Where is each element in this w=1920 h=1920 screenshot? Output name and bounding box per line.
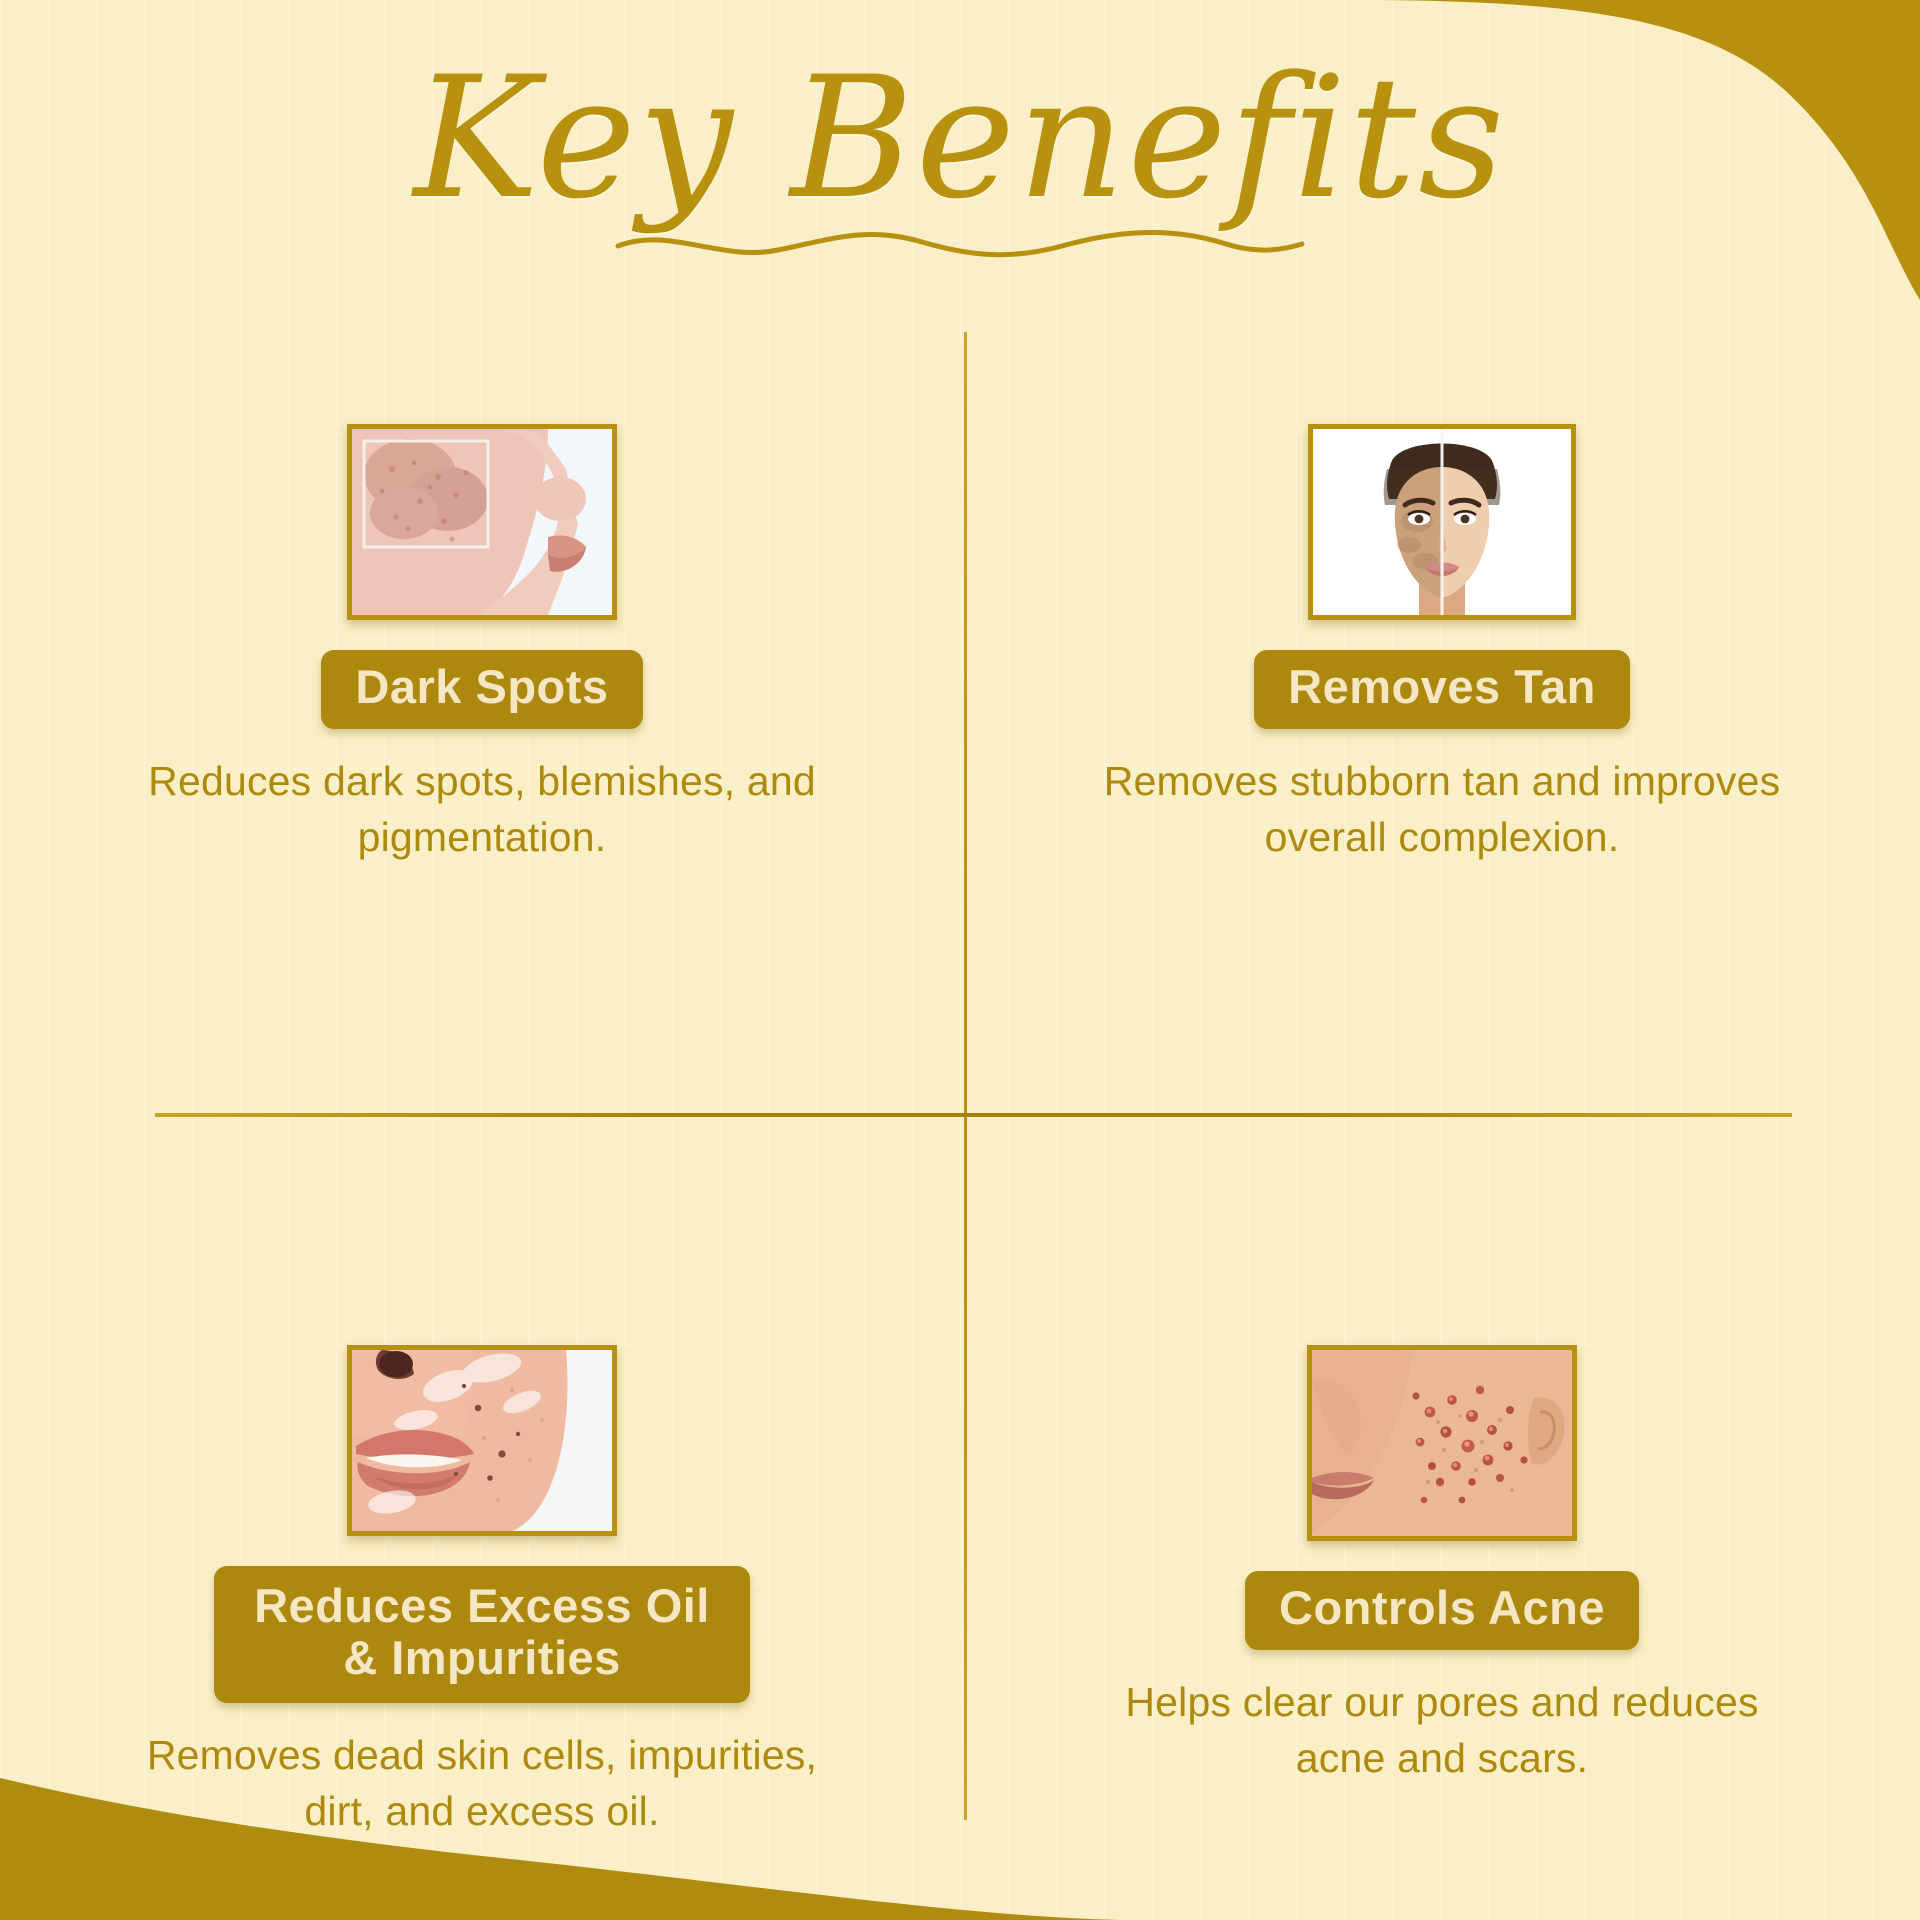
page-title: Key Benefits — [0, 50, 1920, 226]
benefits-grid: Dark Spots Reduces dark spots, blemishes… — [0, 380, 1920, 1840]
benefit-badge-removes-tan: Removes Tan — [1254, 650, 1630, 729]
vertical-divider — [964, 332, 967, 1820]
benefit-description-controls-acne: Helps clear our pores and reduces acne a… — [1112, 1674, 1772, 1787]
benefit-badge-dark-spots: Dark Spots — [321, 650, 642, 729]
benefit-badge-controls-acne: Controls Acne — [1245, 1571, 1639, 1650]
benefit-image-dark-spots — [347, 424, 617, 620]
benefit-card-reduces-excess-oil: Reduces Excess Oil& Impurities Removes d… — [0, 1115, 964, 1840]
title-flourish-icon — [610, 220, 1310, 266]
benefit-card-dark-spots: Dark Spots Reduces dark spots, blemishes… — [0, 380, 964, 1115]
benefit-description-reduces-excess-oil: Removes dead skin cells, impurities, dir… — [132, 1727, 832, 1840]
benefit-card-removes-tan: Removes Tan Removes stubborn tan and imp… — [964, 380, 1920, 1115]
benefit-image-removes-tan — [1308, 424, 1576, 620]
horizontal-divider — [155, 1113, 1792, 1117]
benefit-image-reduces-excess-oil — [347, 1345, 617, 1536]
benefit-card-controls-acne: Controls Acne Helps clear our pores and … — [964, 1115, 1920, 1840]
benefit-image-controls-acne — [1307, 1345, 1577, 1541]
page-title-block: Key Benefits — [0, 50, 1920, 271]
benefit-description-removes-tan: Removes stubborn tan and improves overal… — [1092, 753, 1792, 866]
benefit-description-dark-spots: Reduces dark spots, blemishes, and pigme… — [132, 753, 832, 866]
benefit-badge-reduces-excess-oil: Reduces Excess Oil& Impurities — [214, 1566, 750, 1703]
